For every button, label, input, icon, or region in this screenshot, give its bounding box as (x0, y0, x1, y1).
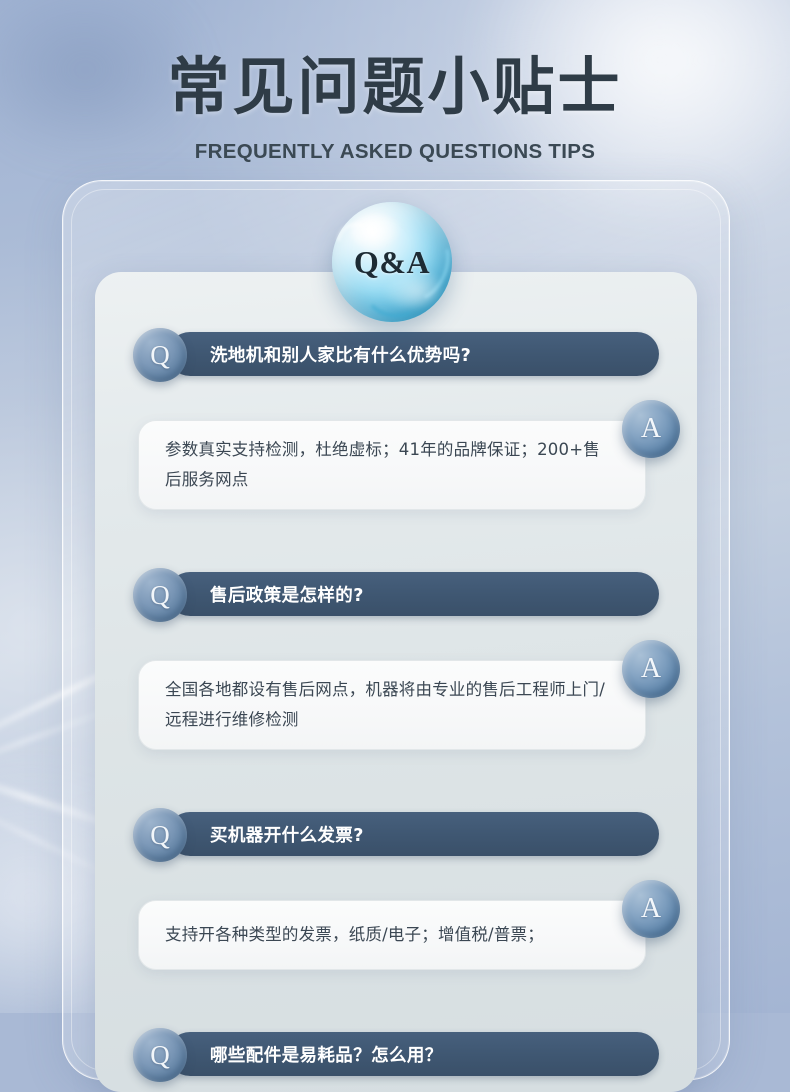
faq-question-text: 买机器开什么发票? (210, 822, 364, 847)
qa-sphere-icon: Q&A (332, 202, 452, 322)
faq-gap (0, 790, 790, 812)
faq-question-text: 哪些配件是易耗品？怎么用？ (210, 1042, 443, 1067)
faq-item: 买机器开什么发票? Q 支持开各种类型的发票，纸质/电子；增值税/普票； A (0, 812, 790, 1010)
faq-answer-card: 全国各地都设有售后网点，机器将由专业的售后工程师上门/远程进行维修检测 (138, 660, 646, 750)
faq-question-bar[interactable]: 哪些配件是易耗品？怎么用？ (168, 1032, 659, 1076)
faq-answer-wrap: 全国各地都设有售后网点，机器将由专业的售后工程师上门/远程进行维修检测 A (0, 640, 790, 790)
question-badge-label: Q (150, 822, 170, 849)
page-subtitle: FREQUENTLY ASKED QUESTIONS TIPS (0, 140, 790, 164)
qa-sphere-label: Q&A (354, 244, 430, 281)
faq-item: 洗地机和别人家比有什么优势吗? Q 参数真实支持检测，杜绝虚标；41年的品牌保证… (0, 332, 790, 550)
question-badge-label: Q (150, 1042, 170, 1069)
faq-list: 洗地机和别人家比有什么优势吗? Q 参数真实支持检测，杜绝虚标；41年的品牌保证… (0, 332, 790, 1084)
question-badge-icon: Q (133, 1028, 187, 1082)
question-badge-label: Q (150, 342, 170, 369)
faq-question-text: 售后政策是怎样的? (210, 582, 364, 607)
faq-question-bar[interactable]: 洗地机和别人家比有什么优势吗? (168, 332, 659, 376)
question-badge-icon: Q (133, 328, 187, 382)
faq-question-row[interactable]: 哪些配件是易耗品？怎么用？ Q (0, 1032, 790, 1084)
answer-badge-icon: A (622, 880, 680, 938)
faq-question-row[interactable]: 买机器开什么发票? Q (0, 812, 790, 864)
faq-question-row[interactable]: 售后政策是怎样的? Q (0, 572, 790, 624)
faq-question-bar[interactable]: 买机器开什么发票? (168, 812, 659, 856)
faq-answer-wrap: 参数真实支持检测，杜绝虚标；41年的品牌保证；200+售后服务网点 A (0, 400, 790, 550)
faq-answer-card: 参数真实支持检测，杜绝虚标；41年的品牌保证；200+售后服务网点 (138, 420, 646, 510)
faq-question-text: 洗地机和别人家比有什么优势吗? (210, 342, 471, 367)
faq-answer-text: 参数真实支持检测，杜绝虚标；41年的品牌保证；200+售后服务网点 (139, 435, 645, 495)
answer-badge-icon: A (622, 400, 680, 458)
answer-badge-label: A (641, 895, 661, 923)
question-badge-icon: Q (133, 808, 187, 862)
answer-badge-label: A (641, 655, 661, 683)
faq-question-row[interactable]: 洗地机和别人家比有什么优势吗? Q (0, 332, 790, 384)
faq-item: 哪些配件是易耗品？怎么用？ Q (0, 1032, 790, 1084)
answer-badge-label: A (641, 415, 661, 443)
faq-answer-card: 支持开各种类型的发票，纸质/电子；增值税/普票； (138, 900, 646, 970)
page-title: 常见问题小贴士 (0, 36, 790, 126)
answer-badge-icon: A (622, 640, 680, 698)
page-header: 常见问题小贴士 FREQUENTLY ASKED QUESTIONS TIPS (0, 0, 790, 164)
question-badge-label: Q (150, 582, 170, 609)
faq-item: 售后政策是怎样的? Q 全国各地都设有售后网点，机器将由专业的售后工程师上门/远… (0, 572, 790, 790)
question-badge-icon: Q (133, 568, 187, 622)
faq-question-bar[interactable]: 售后政策是怎样的? (168, 572, 659, 616)
faq-answer-text: 支持开各种类型的发票，纸质/电子；增值税/普票； (139, 920, 574, 950)
faq-answer-wrap: 支持开各种类型的发票，纸质/电子；增值税/普票； A (0, 880, 790, 1010)
faq-gap (0, 1010, 790, 1032)
faq-answer-text: 全国各地都设有售后网点，机器将由专业的售后工程师上门/远程进行维修检测 (139, 675, 645, 735)
faq-gap (0, 550, 790, 572)
